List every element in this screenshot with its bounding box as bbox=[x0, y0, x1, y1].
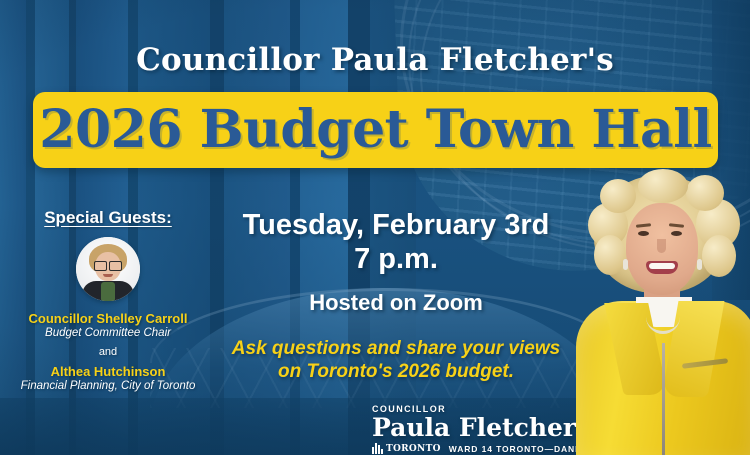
poster-kicker: Councillor Paula Fletcher's bbox=[0, 42, 750, 78]
avatar-mouth bbox=[103, 274, 113, 277]
city-logo-word: TORONTO bbox=[386, 444, 441, 454]
photo-nose bbox=[657, 239, 666, 253]
glasses-icon bbox=[94, 261, 122, 269]
photo-jacket-zipper bbox=[662, 343, 665, 455]
photo-hair-curl bbox=[686, 175, 724, 211]
guest-name: Councillor Shelley Carroll bbox=[4, 311, 212, 326]
photo-earring bbox=[623, 259, 628, 270]
city-of-toronto-logo: TORONTO bbox=[372, 443, 441, 454]
guest-name: Althea Hutchinson bbox=[4, 364, 212, 379]
avatar-shirt bbox=[101, 282, 115, 301]
cta-line-1: Ask questions and share your views bbox=[196, 338, 596, 361]
event-time: 7 p.m. bbox=[196, 242, 596, 276]
photo-hair-curl bbox=[600, 179, 636, 213]
photo-eye bbox=[671, 231, 682, 236]
brand-name: Paula Fletcher bbox=[372, 415, 609, 441]
town-hall-poster: Councillor Paula Fletcher's 2026 Budget … bbox=[0, 0, 750, 455]
page-title: 2026 Budget Town Hall bbox=[39, 104, 711, 156]
event-platform: Hosted on Zoom bbox=[196, 290, 596, 316]
special-guests-section: Special Guests: Councillor Shelley Carro… bbox=[4, 208, 212, 392]
guest-conjunction: and bbox=[4, 346, 212, 358]
photo-earring bbox=[697, 259, 702, 270]
guest-role: Budget Committee Chair bbox=[4, 327, 212, 339]
photo-hair-curl bbox=[638, 169, 688, 203]
call-to-action: Ask questions and share your views on To… bbox=[196, 338, 596, 384]
toronto-bars-icon bbox=[372, 443, 383, 454]
cta-line-2: on Toronto's 2026 budget. bbox=[196, 361, 596, 384]
photo-eye bbox=[638, 231, 649, 236]
special-guests-heading: Special Guests: bbox=[4, 208, 212, 228]
paula-fletcher-photo bbox=[578, 173, 750, 455]
photo-hair-curl bbox=[594, 235, 626, 275]
shelley-carroll-portrait bbox=[76, 237, 140, 301]
photo-hair-curl bbox=[702, 235, 736, 277]
photo-teeth bbox=[649, 263, 675, 269]
title-banner: 2026 Budget Town Hall bbox=[33, 92, 718, 168]
event-date: Tuesday, February 3rd bbox=[196, 208, 596, 242]
event-details-section: Tuesday, February 3rd 7 p.m. Hosted on Z… bbox=[196, 208, 596, 384]
brand-lockup: COUNCILLOR Paula Fletcher TORONTO WARD 1… bbox=[372, 404, 609, 454]
photo-mouth bbox=[646, 261, 678, 274]
guest-role: Financial Planning, City of Toronto bbox=[4, 380, 212, 392]
